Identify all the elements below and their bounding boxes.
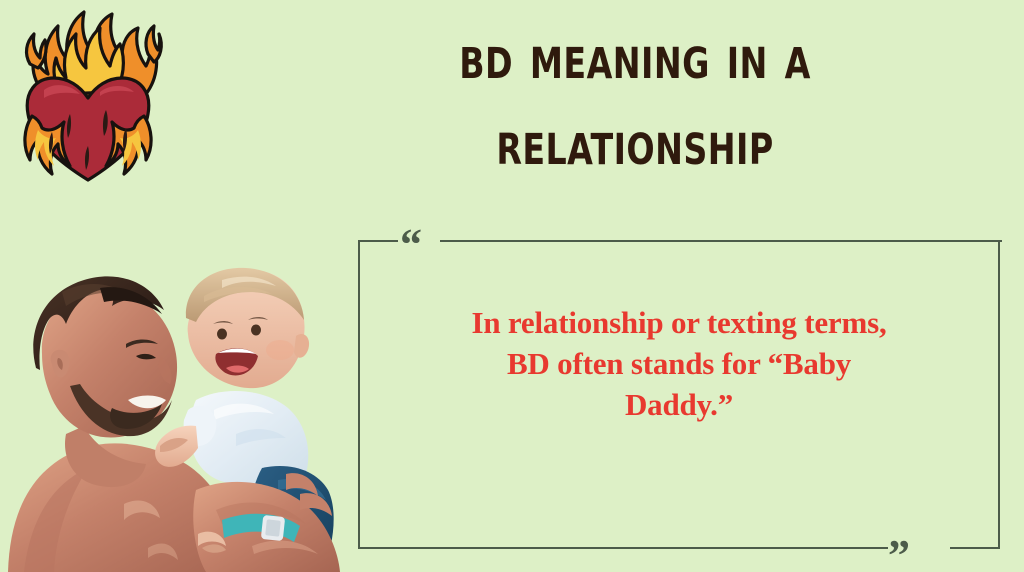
close-quote-icon: ” [888, 534, 910, 572]
quote-line-2: BD often stands for “Baby [376, 343, 982, 384]
father-holding-baby-photo [0, 258, 346, 572]
quote-line-1: In relationship or texting terms, [376, 302, 982, 343]
quote-text: In relationship or texting terms, BD oft… [376, 302, 982, 426]
quote-box-border-bottom-left [358, 547, 888, 549]
quote-box-border-top-left [358, 240, 398, 242]
page-title: BD Meaning in a Relationship [345, 28, 925, 174]
quote-box-border-bottom-right [950, 547, 1000, 549]
infographic-canvas: BD Meaning in a Relationship [0, 0, 1024, 572]
flaming-heart-icon [8, 4, 168, 194]
quote-box-border-right [998, 240, 1000, 549]
open-quote-icon: “ [400, 223, 422, 267]
father-baby-illustration [0, 258, 346, 572]
quote-box-border-left [358, 240, 360, 549]
title-line-1: BD Meaning in a [386, 28, 885, 88]
title-line-2: Relationship [386, 114, 885, 174]
quote-line-3: Daddy.” [376, 384, 982, 425]
quote-box-border-top-right [440, 240, 1002, 242]
quote-box: “ ” In relationship or texting terms, BD… [358, 240, 1000, 549]
flaming-heart-logo [8, 4, 168, 194]
